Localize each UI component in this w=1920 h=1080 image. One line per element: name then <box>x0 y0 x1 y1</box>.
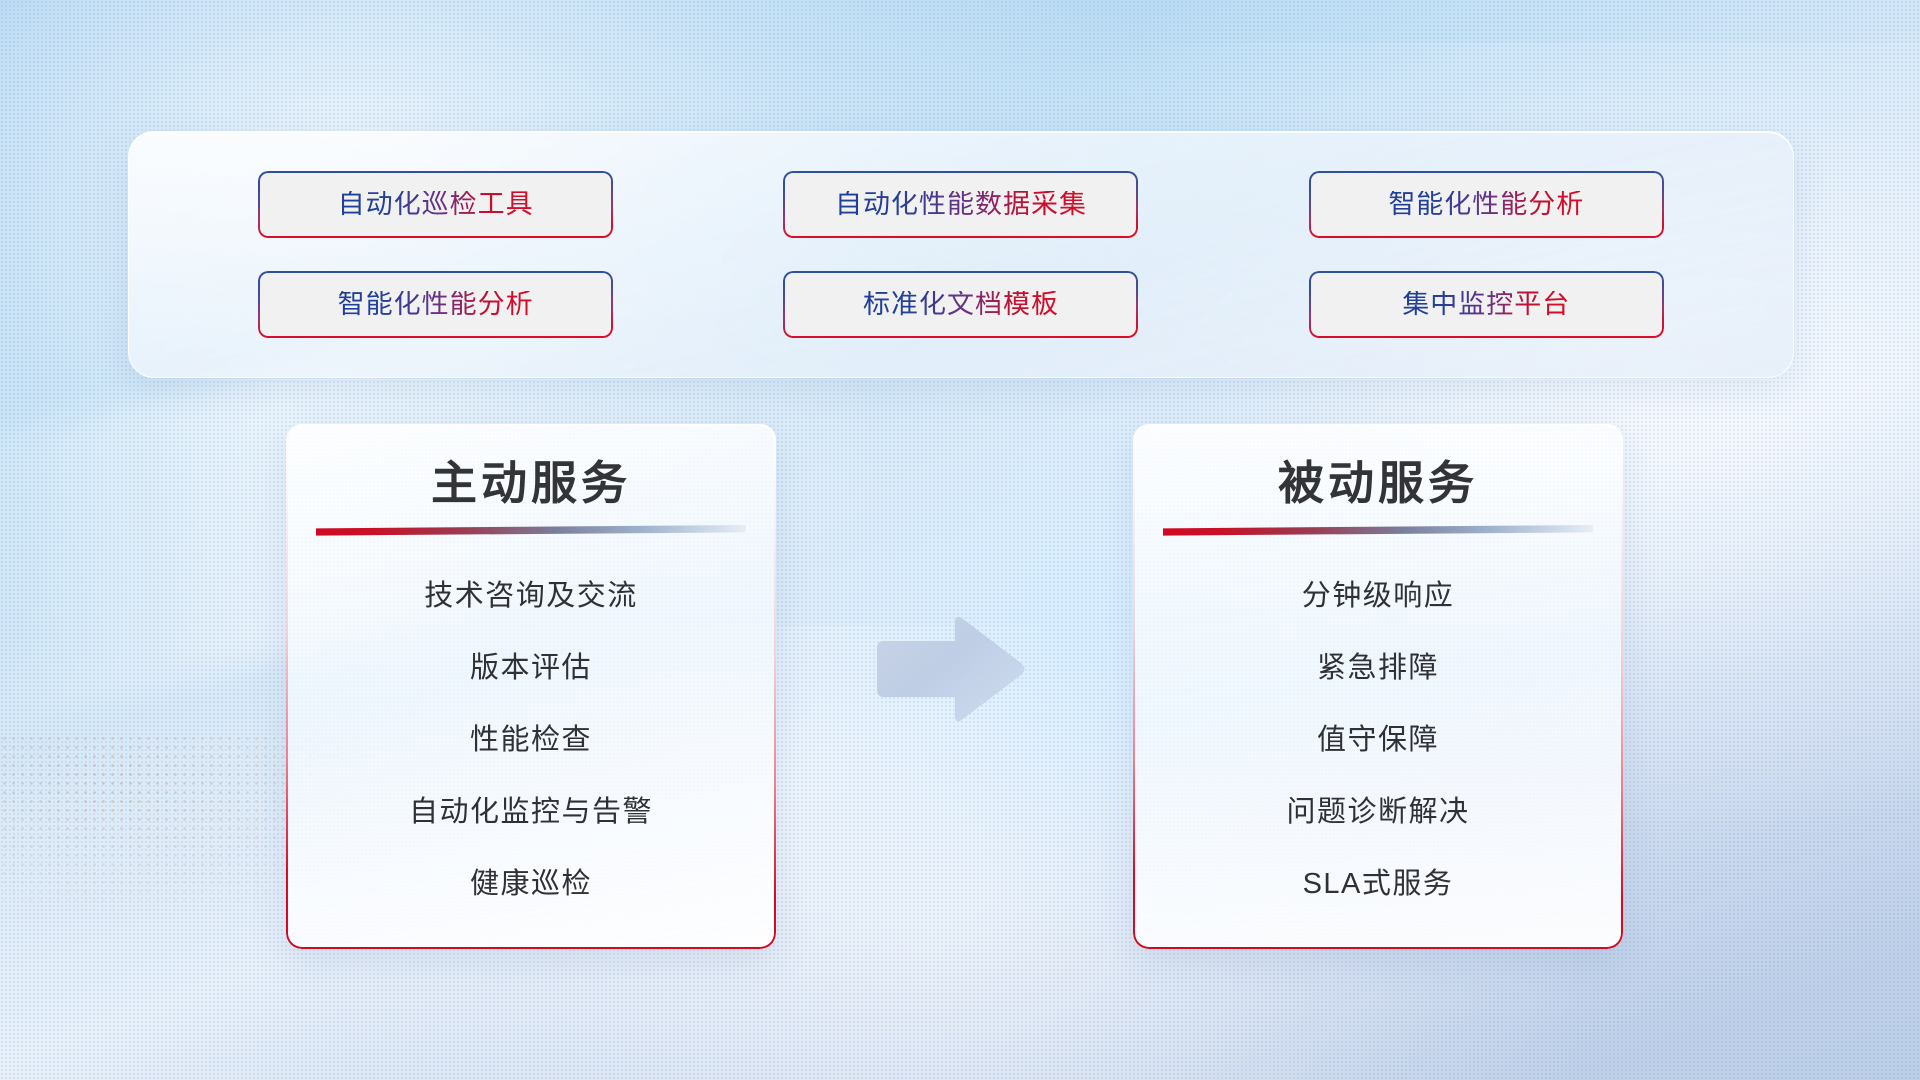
capability-chip[interactable]: 标准化文档模板 <box>783 271 1138 338</box>
card-list-item: 技术咨询及交流 <box>424 561 638 633</box>
capability-chip[interactable]: 自动化巡检工具 <box>258 171 613 238</box>
service-card-reactive: 被动服务 分钟级响应 紧急排障 值守保障 问题诊断解决 SLA式服务 <box>1133 424 1623 949</box>
capability-chip[interactable]: 集中监控平台 <box>1309 271 1664 338</box>
capability-chip[interactable]: 智能化性能分析 <box>258 271 613 338</box>
card-item-list: 技术咨询及交流 版本评估 性能检查 自动化监控与告警 健康巡检 <box>286 561 776 921</box>
card-list-item: 紧急排障 <box>1317 633 1439 705</box>
card-list-item: 值守保障 <box>1317 705 1439 777</box>
capability-chip[interactable]: 自动化性能数据采集 <box>783 171 1138 238</box>
card-list-item: 问题诊断解决 <box>1286 777 1469 849</box>
card-list-item: 性能检查 <box>470 705 592 777</box>
card-item-list: 分钟级响应 紧急排障 值守保障 问题诊断解决 SLA式服务 <box>1133 561 1623 921</box>
card-title-divider <box>316 525 746 537</box>
service-card-proactive: 主动服务 技术咨询及交流 版本评估 性能检查 自动化监控与告警 健康巡检 <box>286 424 776 949</box>
card-title: 主动服务 <box>431 458 631 509</box>
capability-chip-label: 智能化性能分析 <box>1388 191 1584 218</box>
capability-chip-label: 智能化性能分析 <box>338 291 534 318</box>
capability-chip-label: 自动化巡检工具 <box>338 191 534 218</box>
card-title: 被动服务 <box>1278 458 1478 509</box>
card-list-item: 分钟级响应 <box>1302 561 1455 633</box>
arrow-right-icon <box>869 610 1029 728</box>
card-list-item: 健康巡检 <box>470 849 592 921</box>
capability-chip-label: 标准化文档模板 <box>863 291 1059 318</box>
capability-chip-label: 自动化性能数据采集 <box>835 191 1087 218</box>
card-title-divider <box>1163 525 1593 537</box>
capability-chip-panel: 自动化巡检工具 自动化性能数据采集 智能化性能分析 智能化性能分析 标准化文档模… <box>128 131 1794 378</box>
card-list-item: 自动化监控与告警 <box>409 777 653 849</box>
capability-chip-label: 集中监控平台 <box>1402 291 1570 318</box>
card-list-item: 版本评估 <box>470 633 592 705</box>
capability-chip[interactable]: 智能化性能分析 <box>1309 171 1664 238</box>
card-list-item: SLA式服务 <box>1303 849 1454 921</box>
